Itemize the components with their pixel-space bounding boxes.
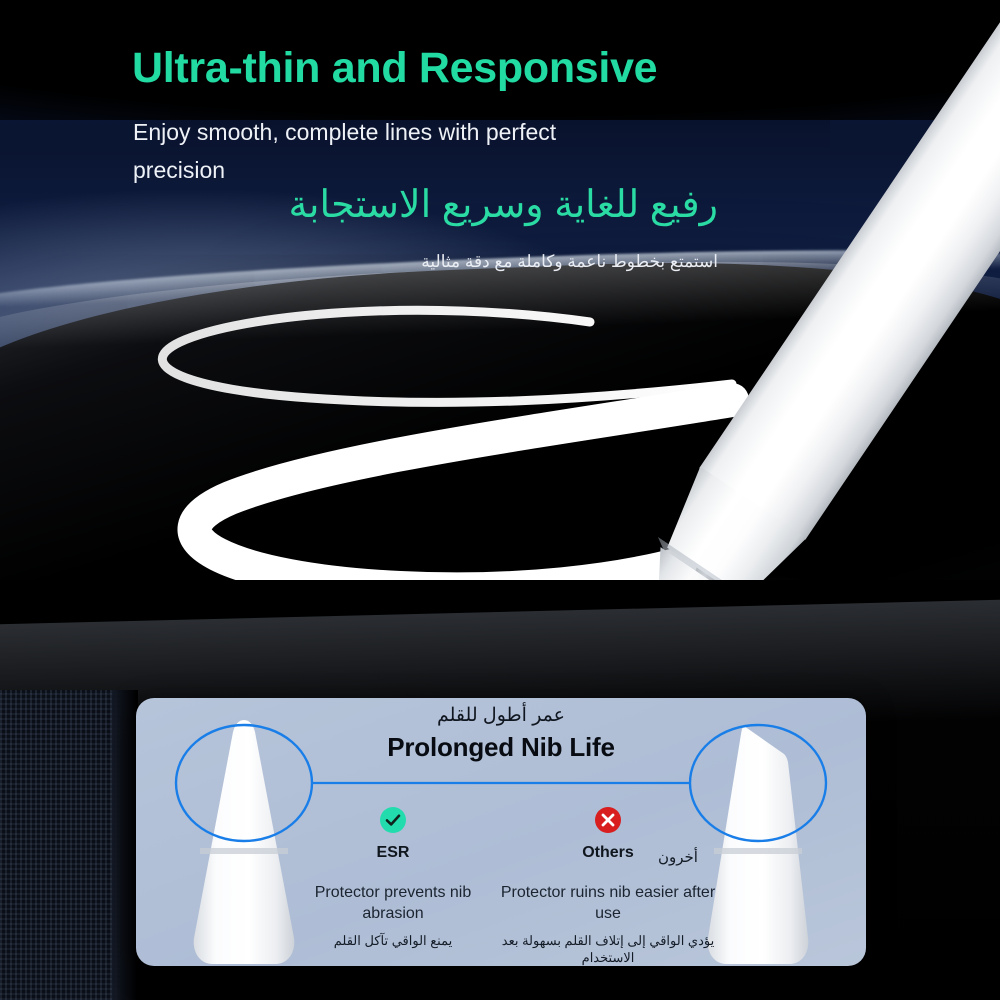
esr-nib-illustration — [178, 714, 310, 966]
column-label-others-arabic: أخرون — [658, 848, 698, 866]
column-description-others: Protector ruins nib easier after use — [500, 882, 716, 924]
column-label-esr: ESR — [318, 844, 468, 862]
comparison-card: عمر أطول للقلم Prolonged Nib Life — [136, 698, 866, 966]
title-arabic: رفيع للغاية وسريع الاستجابة — [289, 182, 718, 227]
fabric-edge-shadow — [112, 690, 138, 1000]
product-marketing-image: Ultra-thin and Responsive Enjoy smooth, … — [0, 0, 1000, 1000]
fabric-texture — [0, 690, 120, 1000]
check-icon — [379, 806, 407, 834]
cross-icon — [594, 806, 622, 834]
column-description-esr-arabic: يمنع الواقي تآكل القلم — [278, 932, 508, 949]
subtitle-arabic: استمتع بخطوط ناعمة وكاملة مع دقة مثالية — [421, 252, 718, 272]
subtitle-english: Enjoy smooth, complete lines with perfec… — [133, 113, 653, 189]
title-english: Ultra-thin and Responsive — [132, 44, 657, 93]
column-description-others-arabic: يؤدي الواقي إلى إتلاف القلم بسهولة بعد ا… — [493, 932, 723, 966]
column-description-esr: Protector prevents nib abrasion — [285, 882, 501, 924]
others-nib-illustration — [692, 714, 824, 966]
